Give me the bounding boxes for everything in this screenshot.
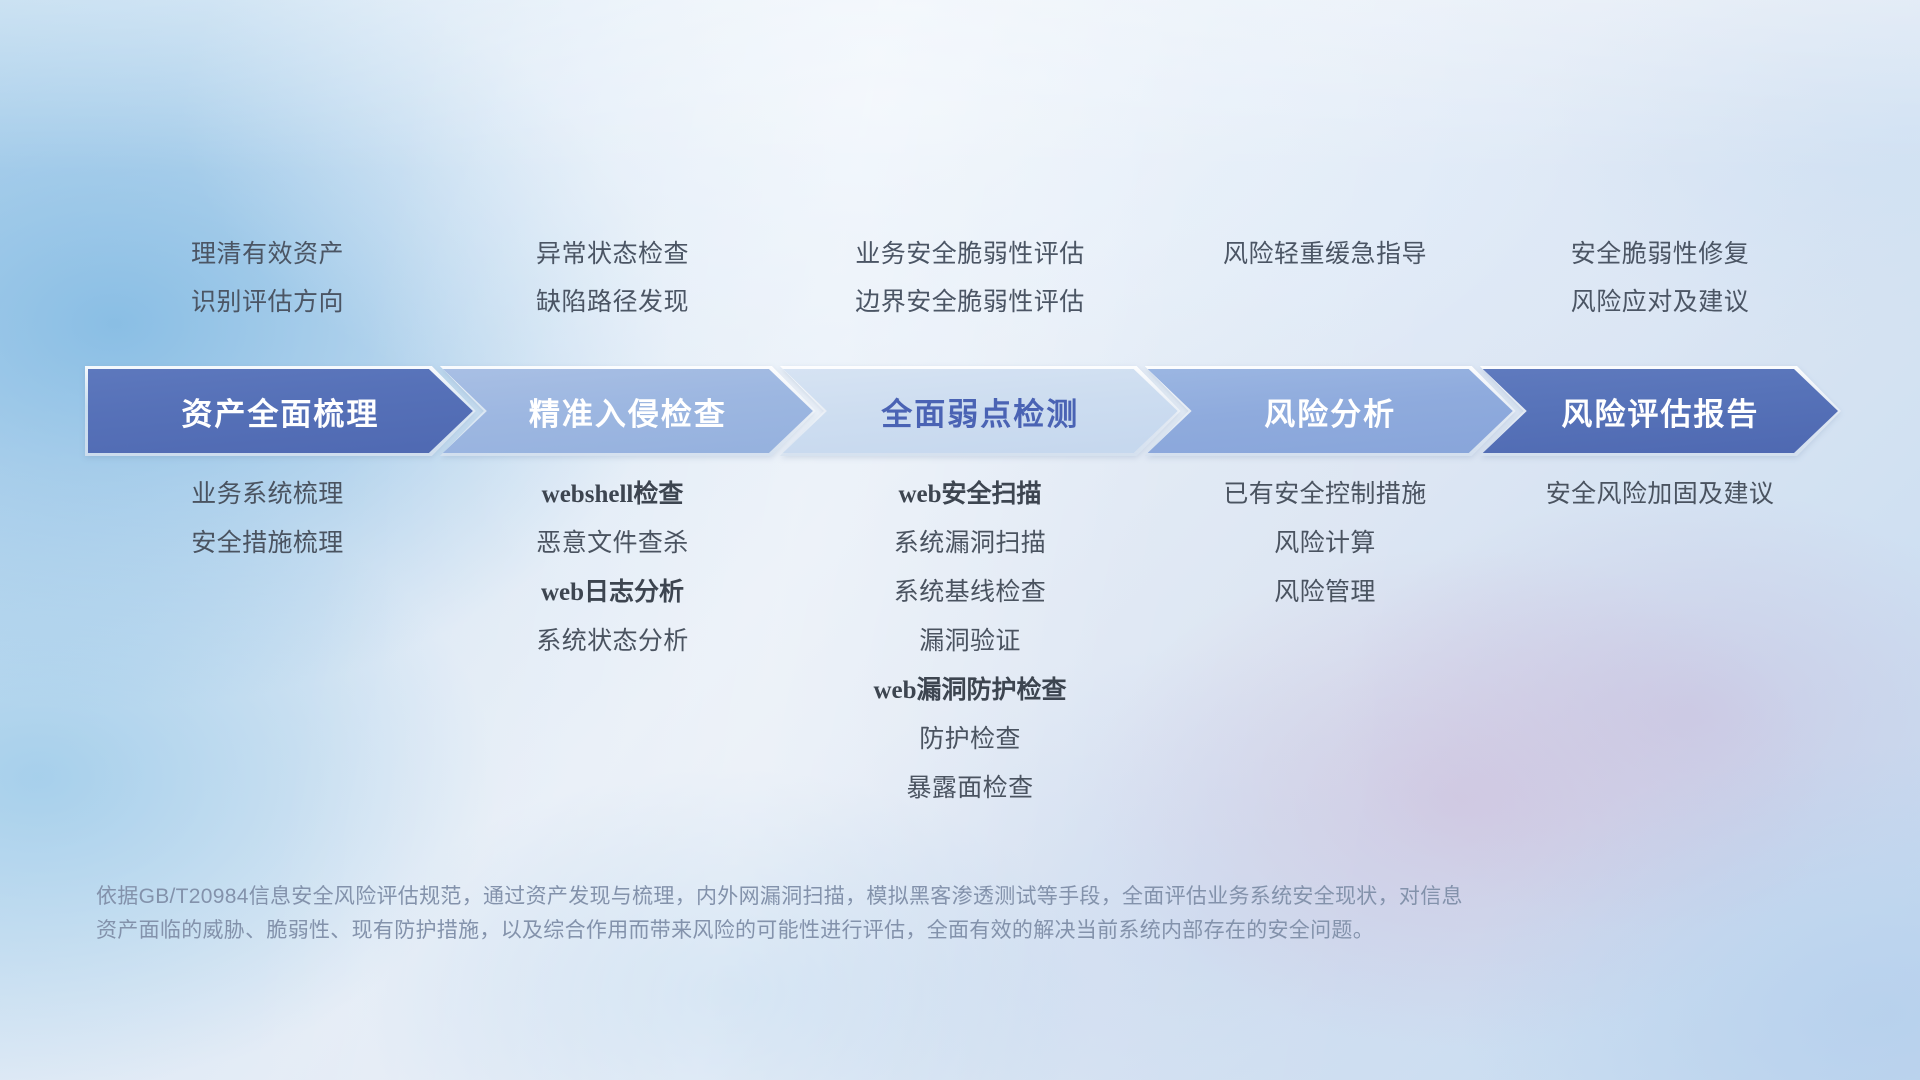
top-label: 风险应对及建议 (1495, 278, 1825, 326)
chevron-stage-intrusion-check[interactable]: 精准入侵检查 (443, 369, 813, 453)
bottom-labels-risk-analysis: 已有安全控制措施 风险计算 风险管理 (1155, 470, 1495, 617)
chevron-stage-weakness-detection[interactable]: 全面弱点检测 (783, 369, 1178, 453)
bottom-label: web漏洞防护检查 (785, 666, 1155, 715)
bottom-labels-row: 业务系统梳理 安全措施梳理 webshell检查 恶意文件查杀 web日志分析 … (95, 470, 1825, 813)
top-label: 安全脆弱性修复 (1495, 230, 1825, 278)
top-labels-risk-report: 安全脆弱性修复 风险应对及建议 (1495, 230, 1825, 326)
bottom-label: 防护检查 (785, 715, 1155, 764)
bottom-labels-weakness-detection: web安全扫描 系统漏洞扫描 系统基线检查 漏洞验证 web漏洞防护检查 防护检… (785, 470, 1155, 813)
footer-description: 依据GB/T20984信息安全风险评估规范，通过资产发现与梳理，内外网漏洞扫描，… (96, 880, 1656, 948)
bottom-label: webshell检查 (440, 470, 785, 519)
top-label: 识别评估方向 (95, 278, 440, 326)
bottom-label: 恶意文件查杀 (440, 519, 785, 568)
chevron-stage-risk-report[interactable]: 风险评估报告 (1483, 369, 1838, 453)
top-label: 风险轻重缓急指导 (1155, 230, 1495, 278)
footer-line: 依据GB/T20984信息安全风险评估规范，通过资产发现与梳理，内外网漏洞扫描，… (96, 880, 1656, 914)
chevron-label: 资产全面梳理 (181, 389, 379, 434)
diagram-content: 理清有效资产 识别评估方向 异常状态检查 缺陷路径发现 业务安全脆弱性评估 边界… (0, 0, 1920, 1080)
top-label: 缺陷路径发现 (440, 278, 785, 326)
chevron-stage-risk-analysis[interactable]: 风险分析 (1148, 369, 1513, 453)
chevron-label: 全面弱点检测 (881, 389, 1079, 434)
bottom-labels-intrusion-check: webshell检查 恶意文件查杀 web日志分析 系统状态分析 (440, 470, 785, 666)
chevron-label: 精准入侵检查 (529, 389, 727, 434)
bottom-label: 风险管理 (1155, 568, 1495, 617)
bottom-label: web日志分析 (440, 568, 785, 617)
bottom-label: 系统状态分析 (440, 617, 785, 666)
top-label: 理清有效资产 (95, 230, 440, 278)
bottom-label: web安全扫描 (785, 470, 1155, 519)
bottom-labels-risk-report: 安全风险加固及建议 (1495, 470, 1825, 519)
top-labels-intrusion-check: 异常状态检查 缺陷路径发现 (440, 230, 785, 326)
bottom-label: 系统基线检查 (785, 568, 1155, 617)
chevron-label: 风险评估报告 (1561, 389, 1759, 434)
bottom-label: 暴露面检查 (785, 764, 1155, 813)
bottom-label: 风险计算 (1155, 519, 1495, 568)
bottom-label: 系统漏洞扫描 (785, 519, 1155, 568)
top-label: 业务安全脆弱性评估 (785, 230, 1155, 278)
top-labels-row: 理清有效资产 识别评估方向 异常状态检查 缺陷路径发现 业务安全脆弱性评估 边界… (95, 230, 1825, 326)
bottom-label: 安全措施梳理 (95, 519, 440, 568)
top-label: 边界安全脆弱性评估 (785, 278, 1155, 326)
process-chevron-band: 资产全面梳理 精准入侵检查 全面弱点检测 风险分析 风险评估报告 (88, 369, 1838, 453)
top-labels-weakness-detection: 业务安全脆弱性评估 边界安全脆弱性评估 (785, 230, 1155, 326)
bottom-label: 业务系统梳理 (95, 470, 440, 519)
bottom-label: 漏洞验证 (785, 617, 1155, 666)
top-labels-risk-analysis: 风险轻重缓急指导 (1155, 230, 1495, 326)
top-label: 异常状态检查 (440, 230, 785, 278)
chevron-stage-asset-inventory[interactable]: 资产全面梳理 (88, 369, 473, 453)
footer-line: 资产面临的威胁、脆弱性、现有防护措施，以及综合作用而带来风险的可能性进行评估，全… (96, 914, 1656, 948)
top-labels-asset-inventory: 理清有效资产 识别评估方向 (95, 230, 440, 326)
bottom-label: 安全风险加固及建议 (1495, 470, 1825, 519)
bottom-labels-asset-inventory: 业务系统梳理 安全措施梳理 (95, 470, 440, 568)
chevron-label: 风险分析 (1264, 389, 1396, 434)
slide-canvas: 理清有效资产 识别评估方向 异常状态检查 缺陷路径发现 业务安全脆弱性评估 边界… (0, 0, 1920, 1080)
bottom-label: 已有安全控制措施 (1155, 470, 1495, 519)
